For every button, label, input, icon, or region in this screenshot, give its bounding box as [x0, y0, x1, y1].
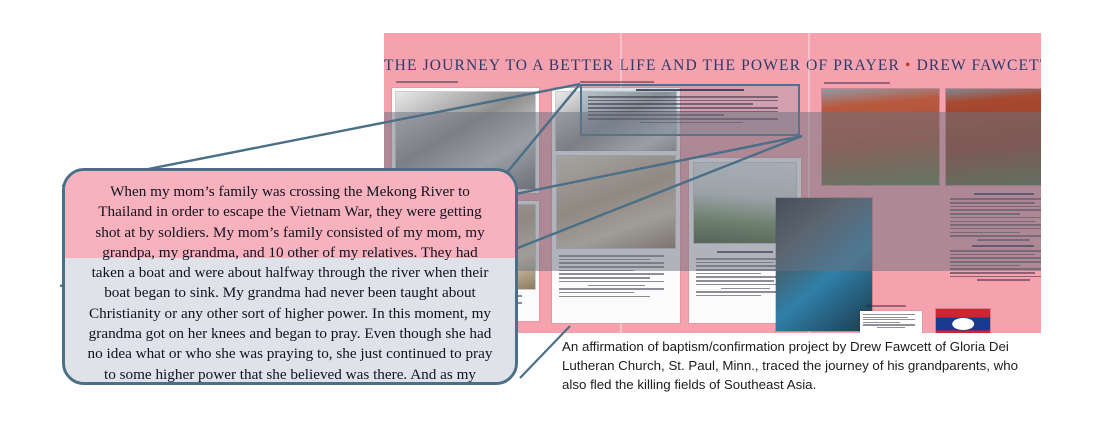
- zoom-callout-bubble: When my mom’s family was crossing the Me…: [62, 168, 518, 385]
- copy-bibliography: [863, 314, 919, 333]
- photo-grandma-and-me: [776, 198, 872, 331]
- caption-tick-grandma: [580, 81, 654, 83]
- photo-caption: An affirmation of baptism/confirmation p…: [562, 338, 1032, 395]
- caption-tick-grandpa: [396, 81, 458, 83]
- caption-tick-reunion: [824, 82, 890, 84]
- callout-text: When my mom’s family was crossing the Me…: [65, 171, 515, 385]
- photo-refugee-camp-group: [557, 156, 675, 248]
- copy-refugee-camp: [559, 255, 673, 317]
- zoom-source-heading: [636, 89, 744, 91]
- flag-of-laos-icon: [936, 309, 990, 333]
- highlighted-text-region: [580, 84, 800, 136]
- caption-tick-bibliography: [866, 305, 906, 307]
- copy-right-column: [950, 193, 1041, 311]
- photo-family-reunion-laos: [822, 89, 939, 185]
- zoom-source-copy: [588, 96, 794, 134]
- heading-after-eighth-grade: [972, 245, 1034, 247]
- poster-title-bullet: •: [905, 57, 912, 74]
- poster-title-main: THE JOURNEY TO A BETTER LIFE AND THE POW…: [384, 57, 900, 74]
- panel-bibliography: [860, 311, 922, 333]
- panel-refugee-camp: [552, 151, 680, 323]
- photo-extended-family-laos: [946, 89, 1041, 185]
- heading-eighth-grade: [974, 193, 1034, 195]
- poster-title: THE JOURNEY TO A BETTER LIFE AND THE POW…: [384, 57, 1041, 75]
- poster-title-author: DREW FAWCETT: [917, 57, 1041, 74]
- heading-life-in-america: [717, 251, 773, 253]
